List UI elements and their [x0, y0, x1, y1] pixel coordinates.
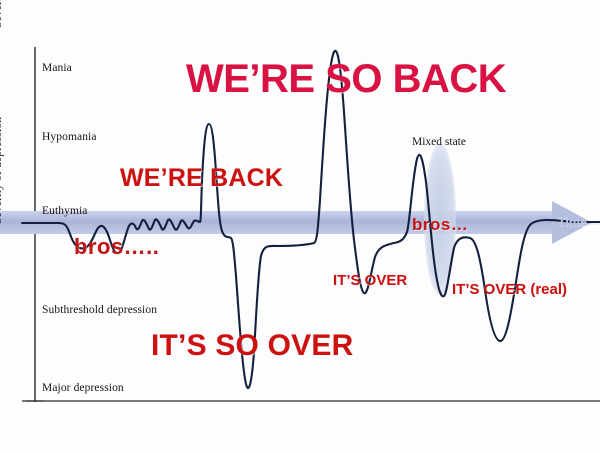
- meme-text-its-over-first: IT’S OVER: [333, 272, 407, 289]
- meme-text-its-so-over: IT’S SO OVER: [151, 329, 353, 363]
- y-tick-label-subthreshold-depression: Subthreshold depression: [42, 304, 157, 316]
- mixed-state-label: Mixed state: [412, 136, 466, 148]
- meme-text-its-over-real: IT’S OVER (real): [452, 281, 567, 298]
- meme-text-were-so-back: WE’RE SO BACK: [186, 57, 506, 102]
- mood-chart-meme: Severity of mania Severity of depression…: [0, 0, 600, 453]
- meme-text-bros-second: bros…: [412, 215, 468, 235]
- y-axis-title-mania: Severity of mania: [0, 0, 4, 60]
- y-axis-title-depression: Severity of depression: [0, 95, 4, 245]
- meme-text-were-back: WE’RE BACK: [120, 164, 283, 193]
- y-tick-label-mania: Mania: [42, 62, 72, 74]
- time-axis-label: Time: [558, 215, 587, 229]
- y-tick-label-euthymia: Euthymia: [42, 205, 88, 217]
- y-tick-label-major-depression: Major depression: [42, 382, 124, 394]
- y-tick-label-hypomania: Hypomania: [42, 131, 97, 143]
- meme-text-bros-first: bros…..: [74, 234, 159, 260]
